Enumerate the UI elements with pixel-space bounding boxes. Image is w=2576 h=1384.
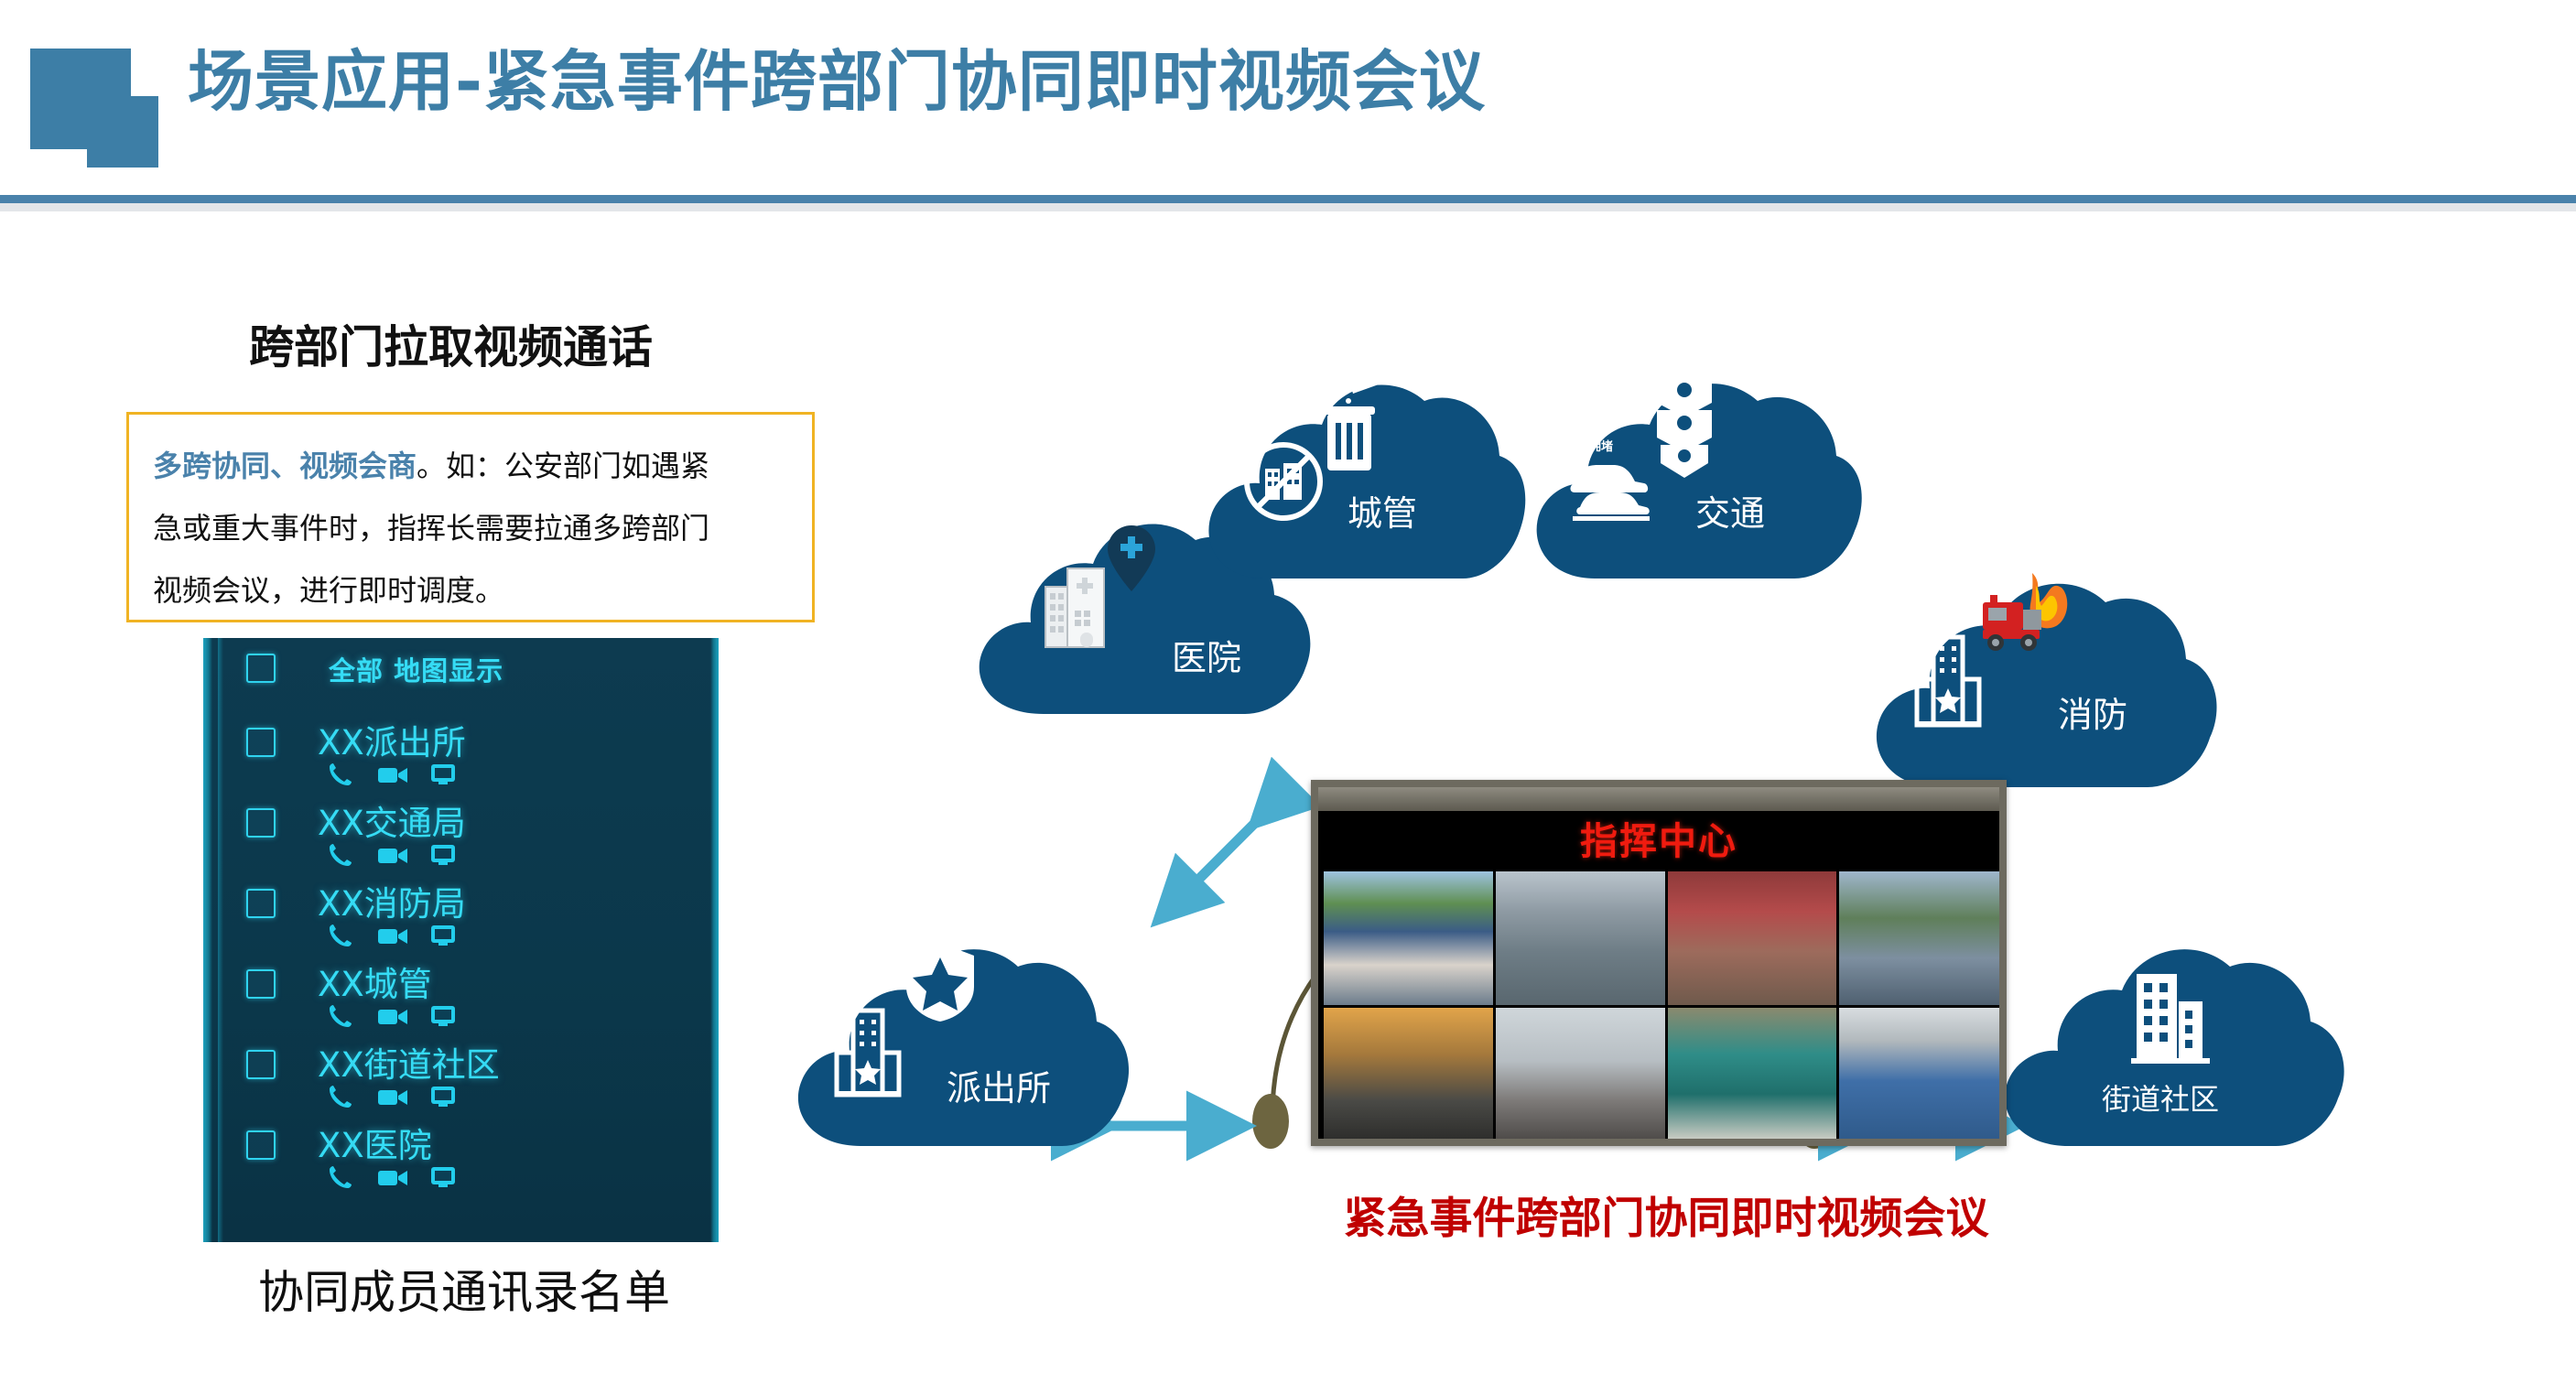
contact-checkbox[interactable] xyxy=(246,1130,276,1160)
panel-left-glow-2 xyxy=(218,638,223,1242)
contact-checkbox[interactable] xyxy=(246,728,276,757)
traffic-jam-cars-icon: 交通拥堵 xyxy=(1560,438,1661,529)
video-camera-icon[interactable] xyxy=(377,1006,408,1028)
display-bezel xyxy=(1318,787,1999,811)
video-monitor-icon[interactable] xyxy=(429,1085,457,1108)
video-camera-icon[interactable] xyxy=(377,1087,408,1108)
note-line-1-rest: 。如：公安部门如遇紧 xyxy=(417,449,709,483)
contact-name: XX医院 xyxy=(318,1118,432,1167)
contact-name: XX城管 xyxy=(318,957,432,1006)
video-monitor-icon[interactable] xyxy=(429,1165,457,1189)
fire-truck-icon xyxy=(1979,569,2080,661)
logo-block-lower-icon xyxy=(87,96,158,168)
contact-name: XX街道社区 xyxy=(318,1037,500,1087)
slide-canvas: 场景应用-紧急事件跨部门协同即时视频会议 跨部门拉取视频通话 多跨协同、视频会商… xyxy=(0,0,2576,1384)
video-wall-tile[interactable] xyxy=(1496,1008,1665,1140)
contact-checkbox[interactable] xyxy=(246,808,276,838)
note-box: 多跨协同、视频会商。如：公安部门如遇紧 急或重大事件时，指挥长需要拉通多跨部门 … xyxy=(126,412,815,622)
video-monitor-icon[interactable] xyxy=(429,843,457,867)
list-header-label: 全部 地图显示 xyxy=(329,650,503,688)
hospital-building-icon xyxy=(1042,563,1108,654)
contacts-panel: 全部 地图显示 XX派出所XX交通局XX消防局XX城管XX街道社区XX医院 ❮ xyxy=(203,638,719,1242)
video-wall-tile[interactable] xyxy=(1839,871,1999,1005)
note-emphasis: 多跨协同、视频会商 xyxy=(153,449,417,483)
cloud-label-community: 街道社区 xyxy=(2102,1076,2219,1119)
svg-text:交通拥堵: 交通拥堵 xyxy=(1565,439,1613,454)
cloud-label-fire: 消防 xyxy=(2058,687,2127,737)
panel-right-glow xyxy=(710,638,719,1242)
header-divider xyxy=(0,195,2576,203)
cloud-traffic[interactable]: 交通拥堵 交通 xyxy=(1529,330,1867,604)
video-wall-tile[interactable] xyxy=(1324,871,1493,1005)
contact-checkbox[interactable] xyxy=(246,1050,276,1079)
video-camera-icon[interactable] xyxy=(377,1167,408,1189)
contact-name: XX交通局 xyxy=(318,795,466,845)
video-camera-icon[interactable] xyxy=(377,845,408,867)
cloud-label-police: 派出所 xyxy=(947,1060,1051,1110)
header-divider-shadow xyxy=(0,203,2576,211)
diagram-caption: 紧急事件跨部门协同即时视频会议 xyxy=(1282,1183,2051,1246)
arrow-hospital xyxy=(1172,810,1268,906)
cloud-fire[interactable]: 消防 xyxy=(1867,522,2224,815)
contact-name: XX派出所 xyxy=(318,715,466,764)
arc-end-left-node xyxy=(1252,1094,1289,1149)
video-monitor-icon[interactable] xyxy=(429,1004,457,1028)
note-line-2: 急或重大事件时，指挥长需要拉通多跨部门 xyxy=(153,497,788,559)
video-monitor-icon[interactable] xyxy=(429,762,457,786)
phone-icon[interactable] xyxy=(327,841,354,869)
phone-icon[interactable] xyxy=(327,922,354,949)
phone-icon[interactable] xyxy=(327,1163,354,1191)
cloud-label-traffic: 交通 xyxy=(1695,485,1765,535)
video-wall-tile[interactable] xyxy=(1324,1008,1493,1140)
cloud-urban-mgmt[interactable]: 城管 xyxy=(1201,330,1531,604)
command-center-display[interactable]: 指挥中心 xyxy=(1311,780,2007,1146)
video-wall-grid xyxy=(1324,871,1999,1139)
police-badge-icon xyxy=(901,939,980,1029)
office-building-icon xyxy=(1911,632,1985,736)
phone-icon[interactable] xyxy=(327,761,354,788)
video-camera-icon[interactable] xyxy=(377,764,408,786)
office-building-icon xyxy=(831,1007,904,1106)
section-title: 跨部门拉取视频通话 xyxy=(249,311,653,376)
video-wall-tile[interactable] xyxy=(1668,1008,1837,1140)
cloud-label-urban-mgmt: 城管 xyxy=(1348,485,1417,535)
video-monitor-icon[interactable] xyxy=(429,924,457,947)
command-center-title: 指挥中心 xyxy=(1318,813,1999,870)
contacts-caption: 协同成员通讯录名单 xyxy=(249,1256,679,1322)
phone-icon[interactable] xyxy=(327,1083,354,1110)
video-camera-icon[interactable] xyxy=(377,925,408,947)
note-line-3: 视频会议，进行即时调度。 xyxy=(153,559,788,622)
video-wall-tile[interactable] xyxy=(1496,871,1665,1005)
note-line-1: 多跨协同、视频会商。如：公安部门如遇紧 xyxy=(153,435,788,497)
contact-checkbox[interactable] xyxy=(246,969,276,999)
cloud-community[interactable]: 街道社区 xyxy=(1996,897,2353,1172)
no-illegal-building-icon xyxy=(1239,438,1327,529)
cloud-police[interactable]: 派出所 xyxy=(789,897,1137,1172)
phone-icon[interactable] xyxy=(327,1002,354,1030)
cloud-label-hospital: 医院 xyxy=(1172,630,1241,680)
panel-left-glow xyxy=(203,638,212,1242)
video-wall-tile[interactable] xyxy=(1839,1008,1999,1140)
contact-name: XX消防局 xyxy=(318,876,466,925)
contact-checkbox[interactable] xyxy=(246,889,276,918)
command-center-screen: 指挥中心 xyxy=(1318,787,1999,1139)
medical-map-pin-icon xyxy=(1106,524,1157,600)
video-wall-tile[interactable] xyxy=(1668,871,1837,1005)
select-all-checkbox[interactable] xyxy=(246,654,276,683)
page-title: 场景应用-紧急事件跨部门协同即时视频会议 xyxy=(188,27,1486,124)
office-building-icon xyxy=(2129,970,2212,1069)
